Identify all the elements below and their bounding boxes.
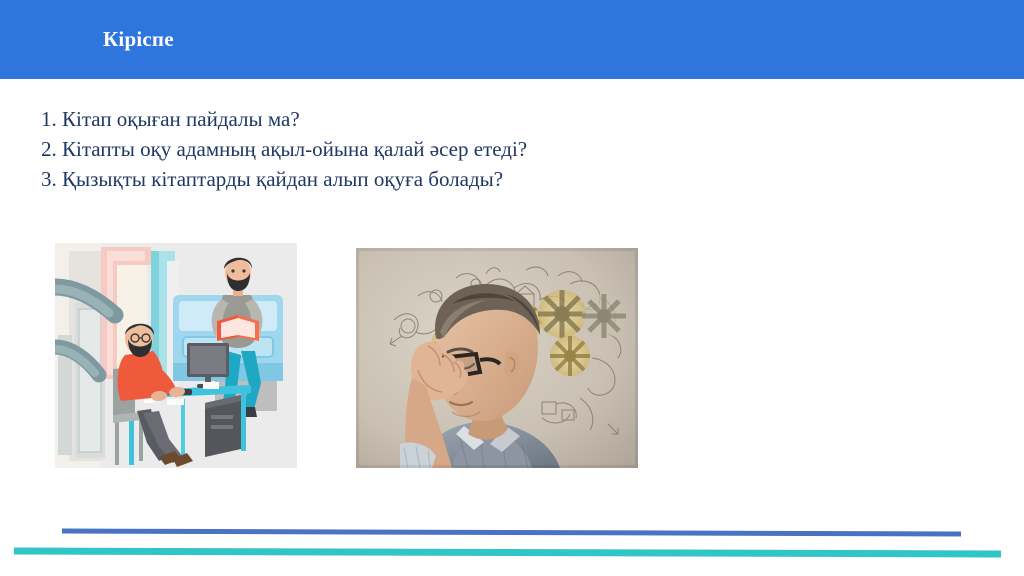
decor-lines-svg — [0, 500, 1024, 576]
decorative-lines — [0, 500, 1024, 576]
question-item-1: 1. Кітап оқыған пайдалы ма? — [41, 104, 941, 134]
thinking-man-photo-svg — [356, 248, 638, 468]
media-row — [0, 0, 1024, 576]
question-item-3: 3. Қызықты кітаптарды қайдан алып оқуға … — [41, 164, 941, 194]
page-title: Кіріспе — [103, 27, 174, 52]
decor-line-teal — [14, 551, 1001, 554]
decor-line-blue — [62, 531, 961, 534]
question-item-2: 2. Кітапты оқу адамның ақыл-ойына қалай … — [41, 134, 941, 164]
header-banner: Кіріспе — [0, 0, 1024, 79]
office-illustration-svg — [55, 243, 297, 468]
question-list: 1. Кітап оқыған пайдалы ма? 2. Кітапты о… — [41, 104, 941, 194]
illustration-office-image — [55, 243, 297, 468]
photo-thinking-man-image — [356, 248, 638, 468]
slide-canvas: Кіріспе 1. Кітап оқыған пайдалы ма? 2. К… — [0, 0, 1024, 576]
